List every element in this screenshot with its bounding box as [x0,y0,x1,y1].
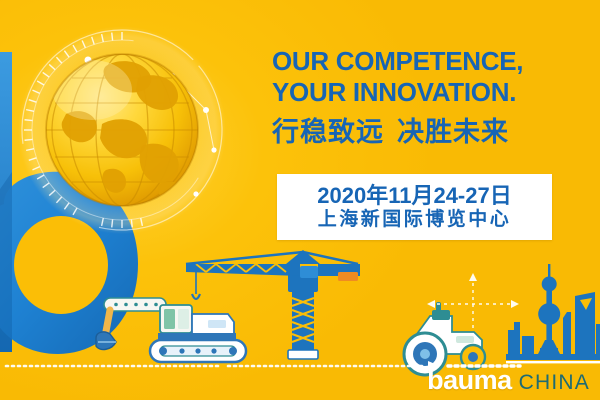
poster-canvas: OUR COMPETENCE, YOUR INNOVATION. 行稳致远决胜未… [0,0,600,400]
logo-region-text: CHINA [519,372,590,393]
headline-block: OUR COMPETENCE, YOUR INNOVATION. 行稳致远决胜未… [272,46,592,150]
headline-cn-a: 行稳致远 [272,117,384,147]
headline-line-3: 行稳致远决胜未来 [272,114,592,150]
logo-brand-text: bauma [427,367,512,394]
event-venue: 上海新国际博览中心 [318,208,512,231]
event-date-venue-box: 2020年11月24-27日 上海新国际博览中心 [277,174,552,240]
golden-globe [10,18,230,238]
headline-line-2: YOUR INNOVATION. [272,77,592,108]
bauma-china-logo: bauma CHINA [427,367,590,394]
shanghai-skyline-icon [506,264,600,363]
excavator-icon [96,298,246,362]
headline-line-1: OUR COMPETENCE, [272,46,592,77]
headline-cn-b: 决胜未来 [397,117,509,147]
event-dates: 2020年11月24-27日 [317,183,511,208]
